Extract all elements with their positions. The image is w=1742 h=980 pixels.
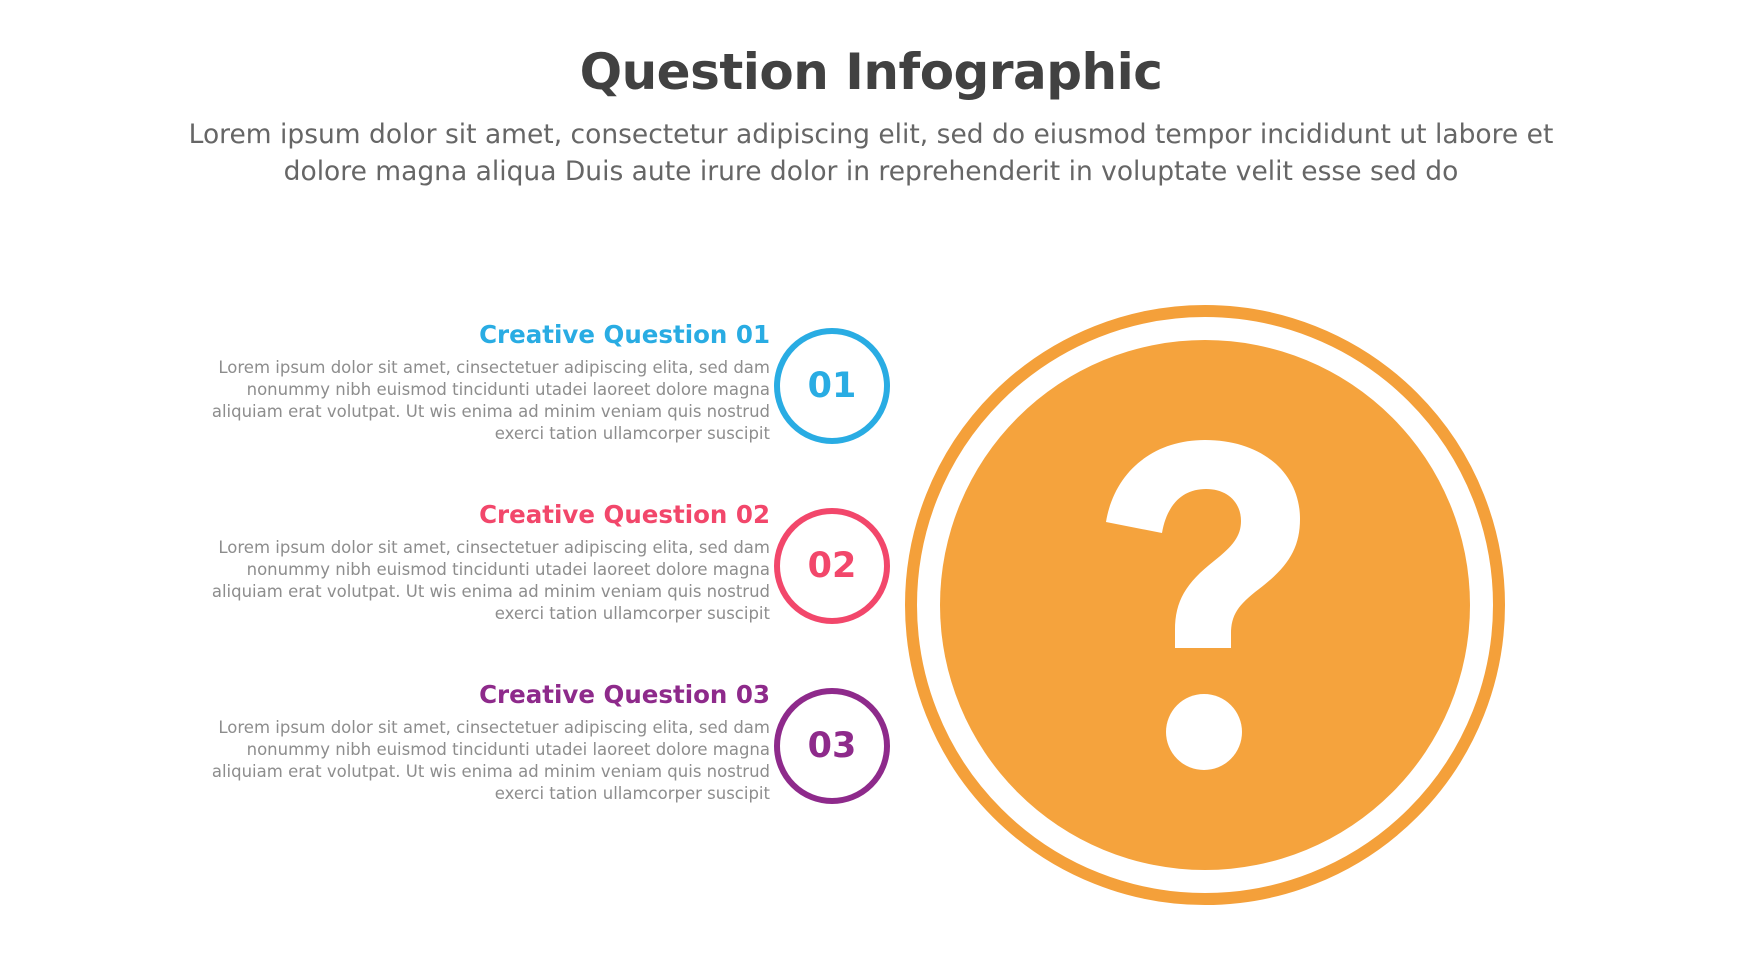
question-mark-graphic [905,305,1505,905]
page-subtitle: Lorem ipsum dolor sit amet, consectetur … [181,116,1561,191]
item-title: Creative Question 01 [210,320,770,349]
item-description: Lorem ipsum dolor sit amet, cinsectetuer… [210,357,770,444]
question-mark-icon [905,305,1505,905]
infographic-canvas: Question Infographic Lorem ipsum dolor s… [0,0,1742,980]
list-item[interactable]: Creative Question 03 Lorem ipsum dolor s… [150,680,890,860]
item-title: Creative Question 02 [210,500,770,529]
item-number: 03 [808,729,857,764]
item-text-block: Creative Question 02 Lorem ipsum dolor s… [210,500,770,624]
list-item[interactable]: Creative Question 02 Lorem ipsum dolor s… [150,500,890,680]
question-list: Creative Question 01 Lorem ipsum dolor s… [150,320,890,860]
header: Question Infographic Lorem ipsum dolor s… [0,44,1742,191]
list-item[interactable]: Creative Question 01 Lorem ipsum dolor s… [150,320,890,500]
item-title: Creative Question 03 [210,680,770,709]
item-description: Lorem ipsum dolor sit amet, cinsectetuer… [210,717,770,804]
item-number-badge[interactable]: 01 [774,328,890,444]
item-text-block: Creative Question 01 Lorem ipsum dolor s… [210,320,770,444]
item-number-badge[interactable]: 03 [774,688,890,804]
item-number-badge[interactable]: 02 [774,508,890,624]
page-title: Question Infographic [0,44,1742,102]
item-number: 01 [808,369,857,404]
item-text-block: Creative Question 03 Lorem ipsum dolor s… [210,680,770,804]
item-number: 02 [808,549,857,584]
item-description: Lorem ipsum dolor sit amet, cinsectetuer… [210,537,770,624]
